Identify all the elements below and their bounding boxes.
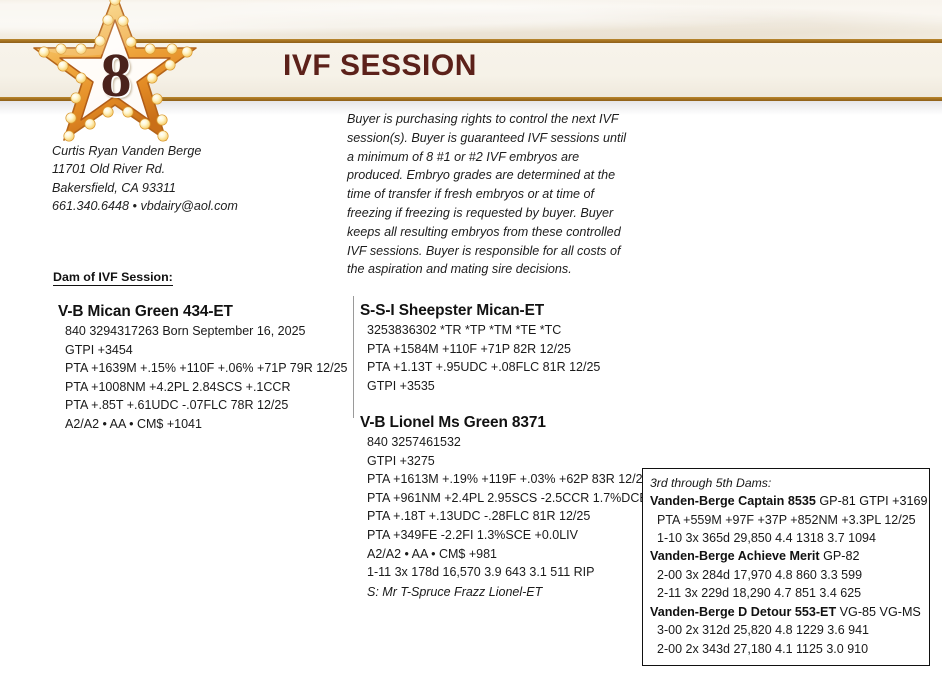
dam-entry-record-row: 3-00 2x 312d 25,820 4.8 1229 3.6 941	[650, 621, 922, 639]
sire-line: S: Mr T-Spruce Frazz Lionel-ET	[367, 583, 650, 602]
animal-detail-line: 3253836302 *TR *TP *TM *TE *TC	[367, 321, 600, 340]
animal-detail-line: GTPI +3275	[367, 452, 650, 471]
dam-entry-name: Vanden-Berge Captain 8535 GP-81 GTPI +31…	[650, 492, 922, 511]
dam-entry-classification: VG-85 VG-MS	[836, 605, 921, 619]
animal-detail-line: 840 3294317263 Born September 16, 2025	[65, 322, 348, 341]
dam-entry-records: 3-00 2x 312d 25,820 4.8 1229 3.6 9412-00…	[650, 621, 922, 658]
animal-detail-line: PTA +1639M +.15% +110F +.06% +71P 79R 12…	[65, 359, 348, 378]
dams-box-entries: Vanden-Berge Captain 8535 GP-81 GTPI +31…	[650, 492, 922, 658]
pedigree-block-dam: V-B Mican Green 434-ET 840 3294317263 Bo…	[58, 303, 348, 434]
pedigree-block-maternal-granddam: S-S-I Sheepster Mican-ET 3253836302 *TR …	[360, 302, 600, 395]
dams-box-title: 3rd through 5th Dams:	[650, 475, 922, 492]
dam-entry-records: 2-00 3x 284d 17,970 4.8 860 3.3 5992-11 …	[650, 566, 922, 603]
dam-entry-name: Vanden-Berge Achieve Merit GP-82	[650, 547, 922, 566]
dam-entry-record-row: 2-00 2x 343d 27,180 4.1 1125 3.0 910	[650, 640, 922, 658]
dam-entry-records: PTA +559M +97F +37P +852NM +3.3PL 12/251…	[650, 511, 922, 548]
animal-sire-line-wrap: S: Mr T-Spruce Frazz Lionel-ET	[360, 583, 650, 602]
animal-detail-line: PTA +.18T +.13UDC -.28FLC 81R 12/25	[367, 507, 650, 526]
animal-name: S-S-I Sheepster Mican-ET	[360, 302, 600, 320]
dam-entry-classification: GP-81 GTPI +3169	[816, 494, 928, 508]
dam-entry-name-text: Vanden-Berge D Detour 553-ET	[650, 605, 836, 619]
lot-description: Buyer is purchasing rights to control th…	[347, 110, 629, 279]
dam-entry-name: Vanden-Berge D Detour 553-ET VG-85 VG-MS	[650, 603, 922, 622]
ancestor-dams-box: 3rd through 5th Dams: Vanden-Berge Capta…	[642, 468, 930, 666]
animal-detail-line: 1-11 3x 178d 16,570 3.9 643 3.1 511 RIP	[367, 563, 650, 582]
animal-detail-line: A2/A2 • AA • CM$ +981	[367, 545, 650, 564]
animal-detail-lines: 840 3257461532GTPI +3275PTA +1613M +.19%…	[360, 433, 650, 582]
lot-star-logo: 8	[24, 0, 206, 162]
animal-detail-line: PTA +961NM +2.4PL 2.95SCS -2.5CCR 1.7%DC…	[367, 489, 650, 508]
pedigree-block-second-dam: V-B Lionel Ms Green 8371 840 3257461532G…	[360, 414, 650, 601]
animal-detail-line: PTA +1.13T +.95UDC +.08FLC 81R 12/25	[367, 358, 600, 377]
consignor-address: 11701 Old River Rd.	[52, 160, 352, 178]
animal-detail-line: PTA +1584M +110F +71P 82R 12/25	[367, 340, 600, 359]
dam-entry-record-row: 2-11 3x 229d 18,290 4.7 851 3.4 625	[650, 584, 922, 602]
animal-detail-line: 840 3257461532	[367, 433, 650, 452]
animal-detail-line: PTA +1613M +.19% +119F +.03% +62P 83R 12…	[367, 470, 650, 489]
dam-entry-name-text: Vanden-Berge Captain 8535	[650, 494, 816, 508]
consignor-contact: 661.340.6448 • vbdairy@aol.com	[52, 197, 352, 215]
column-divider-rule	[353, 296, 354, 418]
dam-of-session-label: Dam of IVF Session:	[53, 270, 173, 286]
animal-detail-lines: 840 3294317263 Born September 16, 2025GT…	[58, 322, 348, 434]
animal-detail-line: GTPI +3535	[367, 377, 600, 396]
animal-detail-line: GTPI +3454	[65, 341, 348, 360]
page-title: IVF SESSION	[283, 49, 477, 83]
consignor-city-state-zip: Bakersfield, CA 93311	[52, 179, 352, 197]
animal-name: V-B Lionel Ms Green 8371	[360, 414, 650, 432]
animal-detail-lines: 3253836302 *TR *TP *TM *TE *TCPTA +1584M…	[360, 321, 600, 395]
dam-entry-record-row: 2-00 3x 284d 17,970 4.8 860 3.3 599	[650, 566, 922, 584]
animal-detail-line: PTA +1008NM +4.2PL 2.84SCS +.1CCR	[65, 378, 348, 397]
animal-detail-line: PTA +.85T +.61UDC -.07FLC 78R 12/25	[65, 396, 348, 415]
dam-entry-record-row: 1-10 3x 365d 29,850 4.4 1318 3.7 1094	[650, 529, 922, 547]
animal-detail-line: A2/A2 • AA • CM$ +1041	[65, 415, 348, 434]
dam-entry-name-text: Vanden-Berge Achieve Merit	[650, 549, 820, 563]
dam-entry-classification: GP-82	[820, 549, 860, 563]
animal-detail-line: PTA +349FE -2.2FI 1.3%SCE +0.0LIV	[367, 526, 650, 545]
animal-name: V-B Mican Green 434-ET	[58, 303, 348, 321]
dam-entry-record-row: PTA +559M +97F +37P +852NM +3.3PL 12/25	[650, 511, 922, 529]
